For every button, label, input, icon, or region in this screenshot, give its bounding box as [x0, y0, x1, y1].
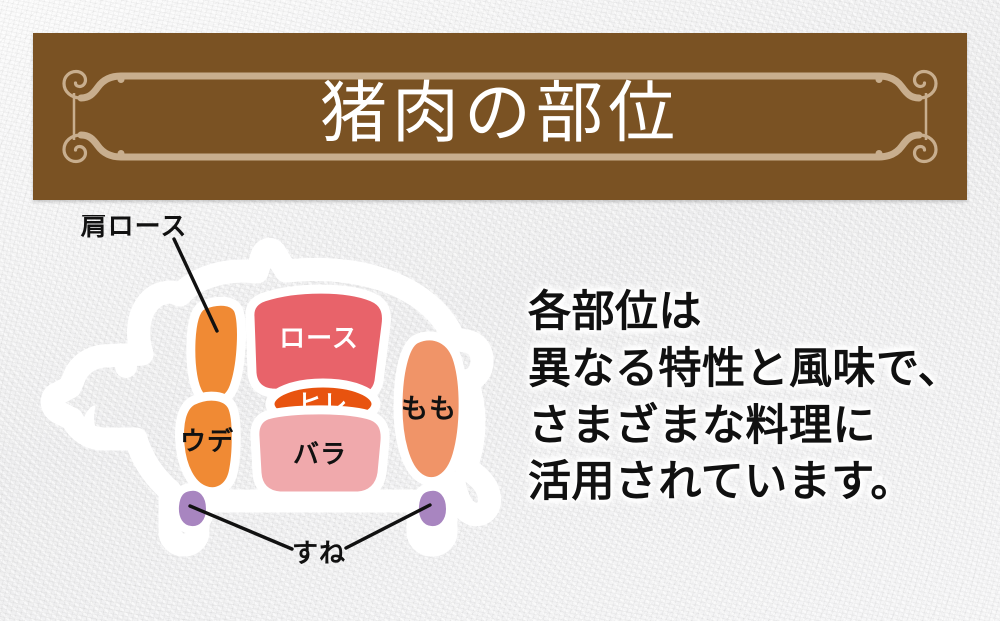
page-title: 猪肉の部位 — [33, 78, 967, 155]
cut-label-loin: ロース — [279, 323, 359, 353]
cut-region-arm[interactable]: ウデ — [180, 396, 237, 492]
description-line-4: 活用されています。 — [528, 454, 988, 511]
poster-canvas: 猪肉の部位 ロース — [0, 0, 1000, 621]
cut-label-belly: バラ — [293, 439, 347, 469]
description-line-2: 異なる特性と風味で、 — [528, 341, 988, 398]
cut-label-kata-loin: 肩ロース — [81, 215, 188, 241]
title-banner: 猪肉の部位 — [33, 33, 967, 200]
boar-eye-icon — [115, 356, 137, 378]
cut-region-thigh[interactable]: もも — [398, 336, 463, 482]
cut-label-arm: ウデ — [180, 426, 234, 456]
cut-region-belly[interactable]: バラ — [255, 410, 385, 496]
description-text-block: 各部位は 異なる特性と風味で、 さまざまな料理に 活用されています。 — [528, 284, 988, 511]
cut-label-thigh: もも — [401, 394, 457, 424]
description-line-3: さまざまな料理に — [528, 398, 988, 455]
boar-tusk-icon — [83, 407, 94, 427]
boar-cuts-diagram: ロース ヒレ バラ ウデ もも — [30, 215, 540, 605]
cut-label-shank: すね — [292, 538, 346, 568]
cut-region-kata-loin[interactable] — [191, 301, 242, 402]
description-line-1: 各部位は — [528, 284, 988, 341]
